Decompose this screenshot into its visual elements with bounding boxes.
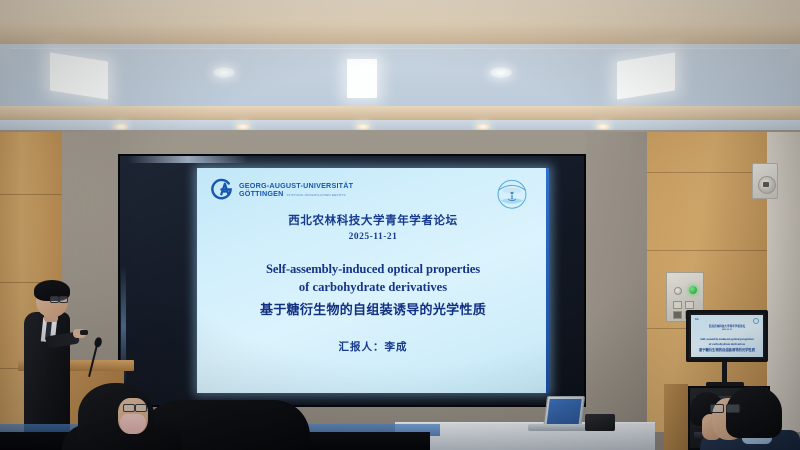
audience-right-glasses-icon	[710, 404, 740, 412]
slide-date: 2025-11-21	[197, 232, 549, 242]
led-top-reflection	[128, 156, 248, 163]
slide-title-cn: 基于糖衍生物的自组装诱导的光学性质	[197, 299, 549, 318]
laptop-screen	[546, 399, 581, 427]
desk-phone[interactable]	[585, 414, 615, 431]
mini-title-cn: 基于糖衍生物的自组装诱导的光学性质	[691, 347, 763, 352]
slide-presenter: 汇报人：李成	[197, 339, 549, 354]
slide-organization: 西北农林科技大学青年学者论坛	[197, 212, 549, 228]
downlight-3	[114, 123, 128, 130]
acoustic-panel-right	[585, 132, 647, 432]
confidence-monitor: GA 西北农林科技大学青年学者论坛 2025-11-21 Self-assemb…	[686, 310, 768, 362]
lecture-hall-photo: GEORG-AUGUST-UNIVERSITÄT GÖTTINGEN STIFT…	[0, 0, 800, 450]
downlight-7	[596, 123, 610, 130]
goettingen-logo: GEORG-AUGUST-UNIVERSITÄT GÖTTINGEN STIFT…	[209, 177, 353, 202]
mini-gau-logo: GA	[695, 318, 699, 321]
downlight-2	[490, 67, 512, 78]
presenter-glasses-icon	[50, 296, 68, 302]
mini-date: 2025-11-21	[691, 329, 763, 331]
gau-logo-subtext: STIFTUNG ÖFFENTLICHEN RECHTS	[287, 194, 325, 198]
downlight-4	[236, 123, 250, 130]
mini-title-line2: of carbohydrate derivatives	[691, 342, 763, 346]
audience-front-glasses-icon	[123, 404, 147, 411]
monitor-stand	[722, 362, 727, 384]
downlight-6	[476, 123, 490, 130]
laptop-keyboard[interactable]	[528, 424, 590, 431]
gau-logo-line2: GÖTTINGEN	[239, 190, 284, 198]
downlight-1	[213, 67, 235, 78]
downlight-5	[356, 123, 370, 130]
presentation-clicker[interactable]	[80, 330, 88, 335]
mini-organization: 西北农林科技大学青年学者论坛	[691, 324, 763, 328]
confidence-monitor-image: GA 西北农林科技大学青年学者论坛 2025-11-21 Self-assemb…	[691, 315, 763, 357]
mini-title-line1: Self-assembly-induced optical properties	[691, 337, 763, 341]
slide-title-en-line1: Self-assembly-induced optical properties	[197, 262, 549, 277]
northwest-a-f-university-emblem-icon	[493, 174, 531, 212]
panel-light-center	[347, 59, 377, 98]
rack-side-cabinet	[664, 384, 688, 450]
slide-title-en-line2: of carbohydrate derivatives	[197, 280, 549, 295]
gau-monogram-icon	[209, 177, 234, 202]
presentation-slide: GEORG-AUGUST-UNIVERSITÄT GÖTTINGEN STIFT…	[197, 168, 549, 393]
wall-speaker-icon	[752, 163, 778, 199]
